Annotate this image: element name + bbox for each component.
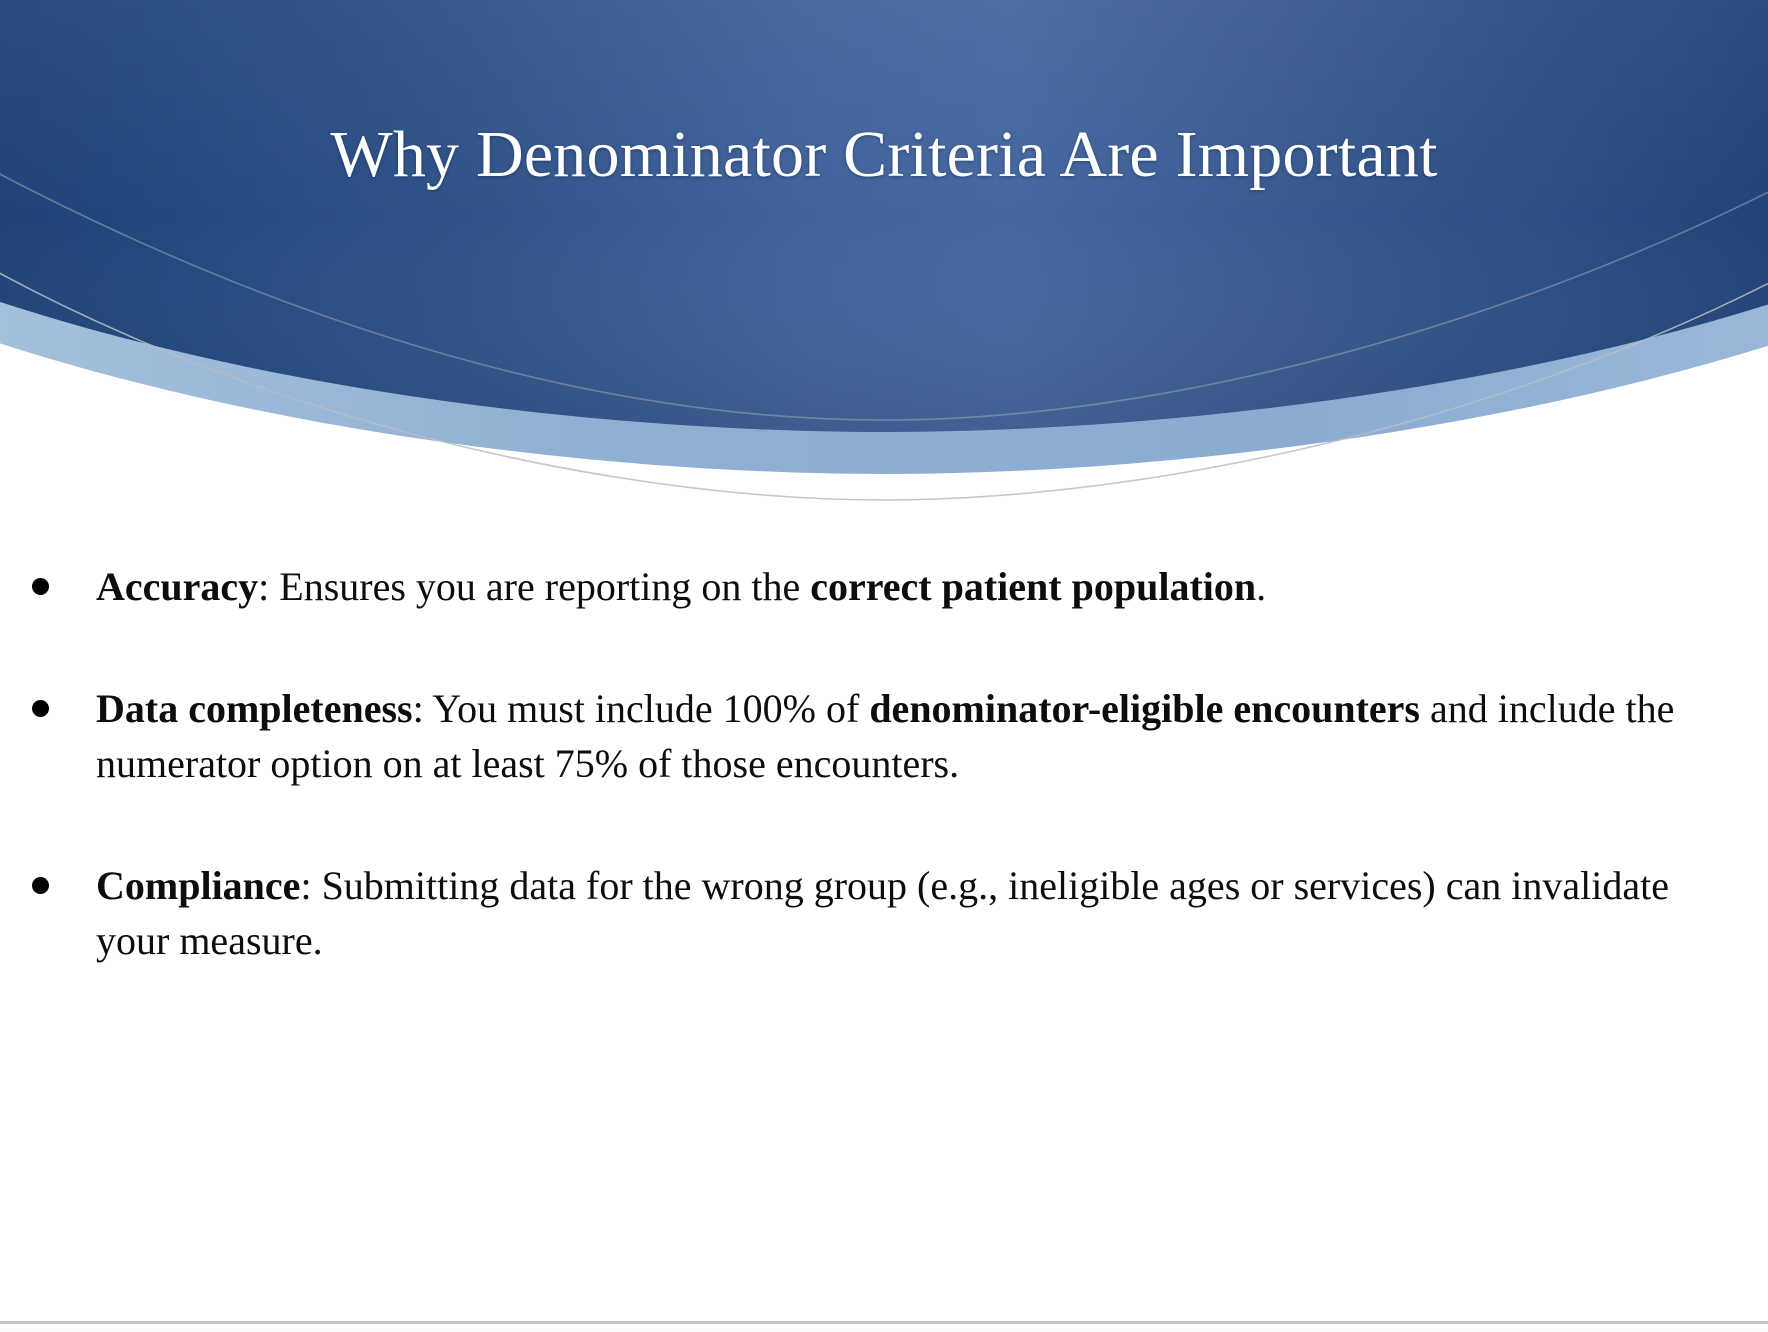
banner-main-shape <box>0 0 1768 432</box>
bullet-item-data-completeness: Data completeness: You must include 100%… <box>0 682 1768 791</box>
slide-title: Why Denominator Criteria Are Important <box>270 118 1497 192</box>
bullet-segment: . <box>1256 564 1266 609</box>
bullet-segment: You must include 100% of <box>432 686 869 731</box>
slide-bottom-strip <box>0 1324 1768 1332</box>
bullet-segment: Ensures you are reporting on the <box>279 564 810 609</box>
bullet-lead-term: Compliance <box>96 863 300 908</box>
bullet-item-accuracy: Accuracy: Ensures you are reporting on t… <box>0 560 1768 614</box>
bullet-segment-emphasis: denominator-eligible encounters <box>869 686 1420 731</box>
bullet-text-compliance: Compliance: Submitting data for the wron… <box>96 859 1738 968</box>
bullet-lead-term: Data completeness <box>96 686 413 731</box>
presentation-slide: Why Denominator Criteria Are Important A… <box>0 0 1768 1332</box>
header-banner-decoration <box>0 0 1768 520</box>
slide-bottom-divider <box>0 1321 1768 1324</box>
bullet-list: Accuracy: Ensures you are reporting on t… <box>0 560 1768 968</box>
bullet-lead-term: Accuracy <box>96 564 258 609</box>
slide-body: Accuracy: Ensures you are reporting on t… <box>0 560 1768 968</box>
bullet-text-accuracy: Accuracy: Ensures you are reporting on t… <box>96 560 1738 614</box>
slide-title-container: Why Denominator Criteria Are Important <box>0 118 1768 192</box>
bullet-separator: : <box>258 564 279 609</box>
bullet-dot-icon <box>32 578 49 595</box>
banner-hairline-arc-outer <box>0 202 1768 500</box>
bullet-text-data-completeness: Data completeness: You must include 100%… <box>96 682 1738 791</box>
bullet-segment: Submitting data for the wrong group (e.g… <box>96 863 1669 962</box>
bullet-separator: : <box>413 686 433 731</box>
banner-shade-overlay <box>0 0 1768 432</box>
banner-shapes-svg <box>0 0 1768 520</box>
bullet-item-compliance: Compliance: Submitting data for the wron… <box>0 859 1768 968</box>
bullet-dot-icon <box>32 700 49 717</box>
bullet-separator: : <box>300 863 321 908</box>
bullet-dot-icon <box>32 877 49 894</box>
banner-light-band <box>0 0 1768 474</box>
bullet-segment-emphasis: correct patient population <box>810 564 1256 609</box>
